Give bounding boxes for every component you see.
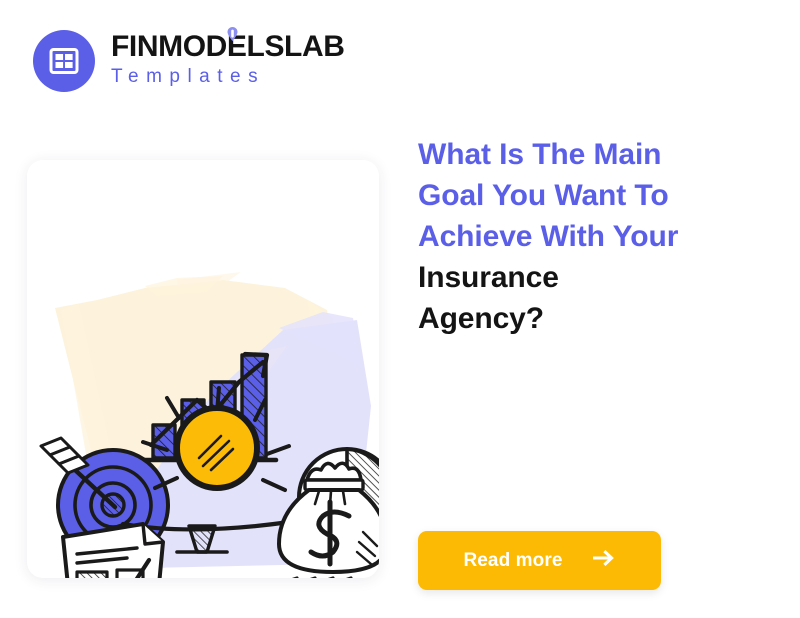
read-more-button[interactable]: Read more (418, 531, 661, 590)
business-goals-illustration (27, 160, 379, 578)
headline-accent-line-2: Goal You Want To (418, 179, 669, 212)
brand-wordmark: FINMODELSLAB Templates (111, 31, 345, 92)
brand-title: FINMODELSLAB (111, 31, 345, 62)
brand-subtitle: Templates (111, 64, 345, 90)
headline-plain-line-2: Agency? (418, 302, 544, 335)
brand-logo[interactable]: FINMODELSLAB Templates (33, 30, 345, 92)
illustration-card (27, 160, 379, 578)
headline-accent-line-1: What Is The Main (418, 138, 661, 171)
read-more-label: Read more (463, 550, 562, 572)
headline-block: What Is The Main Goal You Want To Achiev… (418, 134, 758, 339)
map-pin-icon (227, 27, 238, 51)
headline-plain-line-1: Insurance (418, 261, 559, 294)
page-title: What Is The Main Goal You Want To Achiev… (418, 134, 758, 339)
grid-squares-icon (49, 46, 79, 76)
promo-banner: FINMODELSLAB Templates (0, 0, 800, 618)
logo-mark (33, 30, 95, 92)
headline-accent-line-3: Achieve With Your (418, 220, 678, 253)
arrow-right-icon (593, 550, 616, 572)
